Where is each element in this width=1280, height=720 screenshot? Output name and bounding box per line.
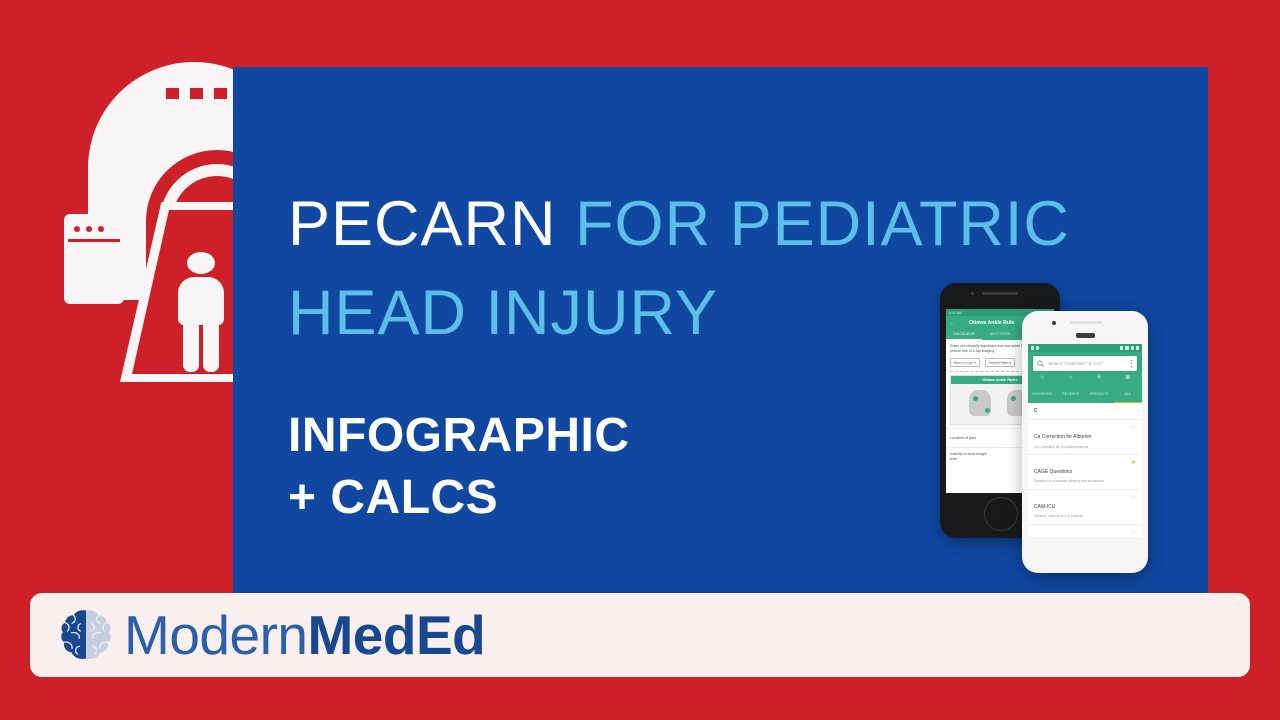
page-subtitle: INFOGRAPHIC + CALCS	[288, 405, 630, 529]
list-item[interactable]: CAM-ICU Monitors delirium in ICU patient…	[1028, 490, 1142, 525]
home-button[interactable]	[984, 497, 1018, 531]
tab-specialty[interactable]: ⚘ SPECIALTY	[1085, 374, 1114, 403]
brand-wordmark: ModernMedEd	[124, 607, 485, 663]
diagram-marker-3	[1011, 396, 1016, 401]
tab-recents-label: RECENTS	[1062, 392, 1079, 396]
list-item-name: CAGE Questions	[1034, 469, 1072, 475]
console-divider	[68, 239, 120, 242]
row-label-location: Location of pain	[950, 436, 976, 441]
brain-icon	[58, 607, 114, 663]
front-camera-icon	[971, 292, 974, 295]
list-item-subtitle: Screens for excessive drinking and alcoh…	[1034, 479, 1127, 483]
list-item[interactable]: Ca Correction for Albumin Ca Correction …	[1028, 420, 1142, 455]
dark-app-title: Ottawa Ankle Rule	[969, 320, 1014, 326]
favorite-star-icon[interactable]: ☆	[1131, 530, 1136, 536]
list-item-text: CAGE Questions Screens for excessive dri…	[1034, 460, 1131, 484]
diagram-marker-2	[985, 408, 990, 413]
status-right-icons	[1120, 346, 1139, 349]
light-phone-mockup: Search "Creatinine" or "crcl" ☆ FAVORITE…	[1022, 311, 1148, 573]
list-item-text: Canadian C-Spine Rule More sens/spec, bu…	[1034, 530, 1131, 537]
list-item[interactable]: Canadian C-Spine Rule More sens/spec, bu…	[1028, 525, 1142, 537]
back-arrow-icon[interactable]: ←	[950, 320, 955, 326]
subtitle-line-2: + CALCS	[288, 467, 630, 529]
title-brand: PECARN	[288, 189, 557, 259]
favorite-star-icon[interactable]: ☆	[1131, 495, 1136, 501]
star-icon: ☆	[1028, 374, 1057, 382]
title-subject-line1: FOR PEDIATRIC	[575, 189, 1070, 259]
favorite-star-icon[interactable]: ★	[1131, 460, 1136, 466]
proximity-sensor-bar	[1076, 333, 1095, 338]
list-item-subtitle: Monitors delirium in ICU patients.	[1034, 514, 1127, 518]
patient-leg-right	[203, 318, 219, 372]
tab-all[interactable]: ≣ ALL	[1114, 374, 1143, 403]
ct-patient-figure	[170, 252, 232, 372]
chip-pearls-pitfalls[interactable]: Pearls/Pitfalls ▾	[985, 358, 1016, 367]
search-icon	[1037, 360, 1044, 367]
list-section-header: C	[1028, 403, 1142, 420]
brand-logo-bar: ModernMedEd	[30, 593, 1250, 677]
list-item-name: CAM-ICU	[1034, 504, 1055, 510]
tab-all-label: ALL	[1125, 392, 1131, 396]
more-vertical-icon[interactable]	[1130, 359, 1133, 368]
list-item-text: CAM-ICU Monitors delirium in ICU patient…	[1034, 495, 1131, 519]
search-input[interactable]: Search "Creatinine" or "crcl"	[1033, 356, 1137, 371]
search-placeholder: Search "Creatinine" or "crcl"	[1048, 361, 1126, 366]
light-phone-screen: Search "Creatinine" or "crcl" ☆ FAVORITE…	[1028, 344, 1142, 537]
patient-torso	[178, 277, 224, 325]
brand-word-modern: Modern	[124, 604, 307, 666]
clock-icon: ○	[1057, 374, 1086, 382]
front-camera-icon	[1052, 321, 1056, 325]
app-screenshots-group: 9:41 AM 100% ← Ottawa Ankle Rule CALCULA…	[928, 283, 1178, 583]
list-item-text: Ca Correction for Albumin Ca Correction …	[1034, 425, 1131, 449]
patient-head	[187, 252, 215, 274]
tab-favorites-label: FAVORITES	[1033, 392, 1052, 396]
tab-favorites[interactable]: ☆ FAVORITES	[1028, 374, 1057, 403]
tab-specialty-label: SPECIALTY	[1090, 392, 1109, 396]
console-indicator-dots	[74, 226, 104, 232]
brand-word-meded: MedEd	[307, 604, 485, 666]
status-left-icons	[1031, 346, 1039, 349]
favorite-star-icon[interactable]: ☆	[1131, 425, 1136, 431]
patient-leg-left	[183, 318, 199, 372]
row-label-bear-weight: Inability to bear weight both	[950, 452, 994, 461]
list-item[interactable]: CAGE Questions Screens for excessive dri…	[1028, 455, 1142, 490]
stethoscope-icon: ⚘	[1085, 374, 1114, 382]
title-subject-line2: HEAD INJURY	[288, 278, 718, 348]
list-icon: ≣	[1114, 374, 1143, 382]
chip-when-to-use[interactable]: When to Use ▾	[950, 358, 980, 367]
ct-control-console	[64, 214, 124, 304]
tab-next-steps[interactable]: NEXT STEPS	[982, 329, 1018, 340]
ct-indicator-lights	[166, 88, 227, 99]
tab-calculator[interactable]: CALCULATOR	[946, 329, 982, 340]
light-status-bar	[1028, 344, 1142, 352]
tab-recents[interactable]: ○ RECENTS	[1057, 374, 1086, 403]
status-time: 9:41 AM	[949, 311, 961, 315]
subtitle-line-1: INFOGRAPHIC	[288, 405, 630, 467]
search-bar-container: Search "Creatinine" or "crcl"	[1028, 352, 1142, 371]
list-item-subtitle: Ca Correction for Hypoalbuminemia.	[1034, 445, 1127, 449]
earpiece-speaker	[982, 292, 1018, 295]
diagram-marker-1	[973, 396, 978, 401]
light-tab-bar: ☆ FAVORITES ○ RECENTS ⚘ SPECIALTY ≣ ALL	[1028, 371, 1142, 403]
earpiece-speaker	[1070, 321, 1102, 324]
list-item-name: Ca Correction for Albumin	[1034, 434, 1091, 440]
